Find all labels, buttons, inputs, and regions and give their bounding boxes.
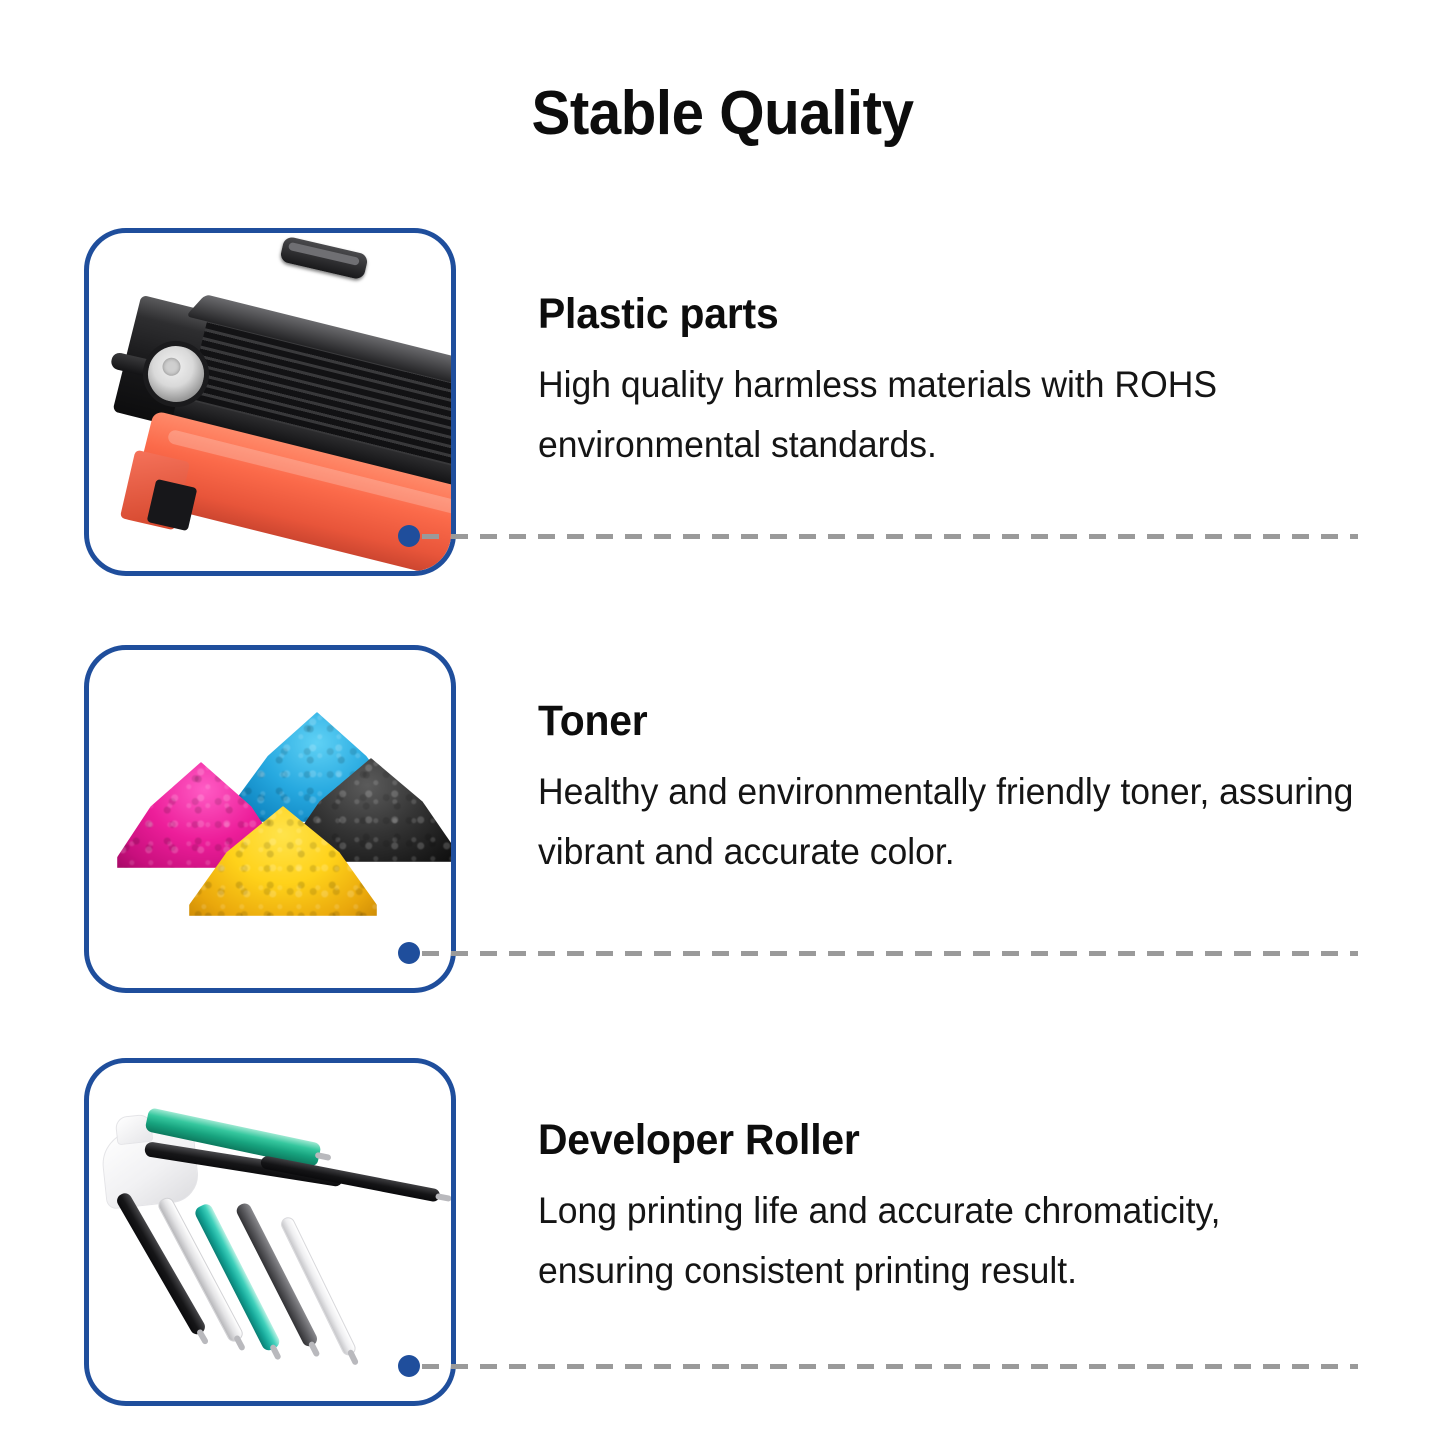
feature-text-developer-roller: Developer Roller Long printing life and … — [538, 1116, 1398, 1301]
black-roller-shape — [260, 1155, 441, 1202]
page-title: Stable Quality — [43, 78, 1401, 149]
connector-plastic-parts — [398, 518, 1398, 554]
connector-dashed-line — [422, 951, 1358, 956]
feature-text-toner: Toner Healthy and environmentally friend… — [538, 697, 1398, 882]
cartridge-black-foot-shape — [147, 479, 198, 531]
feature-block-developer-roller: Developer Roller Long printing life and … — [0, 1038, 1445, 1418]
connector-dashed-line — [422, 1364, 1358, 1369]
feature-description: Healthy and environmentally friendly ton… — [538, 762, 1364, 882]
feature-heading: Plastic parts — [538, 290, 1355, 339]
feature-description: Long printing life and accurate chromati… — [538, 1181, 1364, 1301]
feature-block-plastic-parts: Plastic parts High quality harmless mate… — [0, 208, 1445, 588]
connector-developer-roller — [398, 1348, 1398, 1384]
connector-dashed-line — [422, 534, 1358, 539]
feature-description: High quality harmless materials with ROH… — [538, 355, 1364, 475]
feature-heading: Toner — [538, 697, 1355, 746]
connector-dot-icon — [398, 942, 420, 964]
feature-text-plastic-parts: Plastic parts High quality harmless mate… — [538, 290, 1398, 475]
connector-toner — [398, 935, 1398, 971]
feature-block-toner: Toner Healthy and environmentally friend… — [0, 625, 1445, 1005]
cartridge-handle-shape — [279, 236, 369, 281]
connector-dot-icon — [398, 525, 420, 547]
feature-heading: Developer Roller — [538, 1116, 1355, 1165]
connector-dot-icon — [398, 1355, 420, 1377]
developer-roller-parts-image — [89, 1063, 451, 1401]
toner-cartridge-image — [89, 233, 451, 571]
toner-powder-image — [89, 650, 451, 988]
